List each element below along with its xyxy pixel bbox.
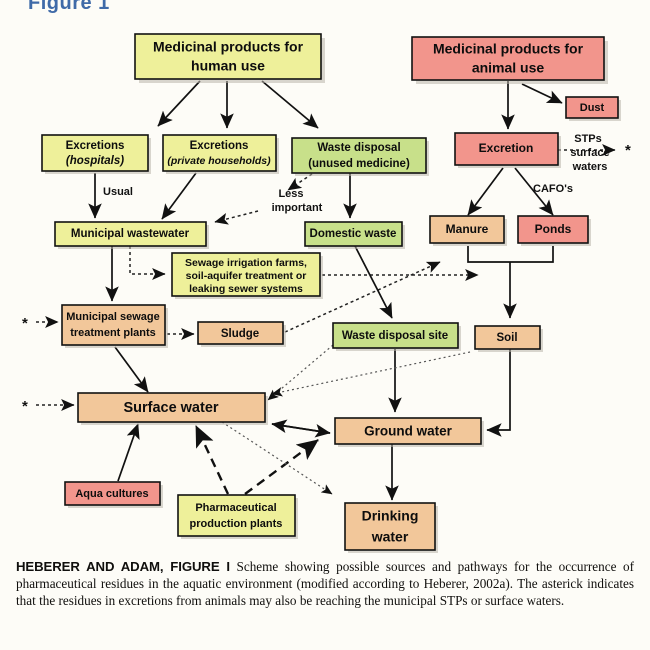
node-label-excretions-hospitals-line2: (hospitals) bbox=[66, 155, 124, 167]
node-municipal-sewage-treatment-plants[interactable]: Municipal sewage treatment plants bbox=[62, 305, 168, 348]
node-label-stp-line2: treatment plants bbox=[70, 327, 156, 339]
node-label-pharma-line1: Pharmaceutical bbox=[195, 502, 276, 514]
edge-label-cafos: CAFO's bbox=[533, 183, 573, 195]
node-label-medicinal-animal-line1: Medicinal products for bbox=[433, 41, 584, 57]
edge-wastewater-to-irrigation bbox=[130, 246, 165, 274]
edge-human-to-wastedisposal bbox=[262, 81, 318, 128]
edge-soil-to-groundwater bbox=[487, 349, 510, 430]
edge-aquacultures-to-surfacewater bbox=[118, 424, 138, 481]
node-sewage-irrigation-farms[interactable]: Sewage irrigation farms, soil-aquifer tr… bbox=[172, 253, 323, 299]
node-municipal-wastewater[interactable]: Municipal wastewater bbox=[55, 222, 209, 249]
edge-label-surface: surface bbox=[570, 147, 609, 159]
node-label-manure: Manure bbox=[446, 222, 489, 236]
edge-label-waters: waters bbox=[572, 161, 608, 173]
node-waste-disposal-unused-medicine[interactable]: Waste disposal (unused medicine) bbox=[292, 138, 429, 176]
caption-lead: HEBERER AND ADAM, FIGURE I bbox=[16, 559, 230, 574]
node-label-waste-disposal-line2: (unused medicine) bbox=[308, 158, 410, 170]
node-label-medicinal-animal-line2: animal use bbox=[472, 60, 545, 76]
node-label-surface-water: Surface water bbox=[123, 400, 218, 416]
node-manure[interactable]: Manure bbox=[430, 216, 507, 246]
node-label-drinking-water-line1: Drinking bbox=[362, 508, 419, 524]
edge-human-to-hospitals bbox=[158, 81, 200, 126]
asterisk-marker-right: * bbox=[625, 142, 631, 159]
edge-pharma-to-groundwater bbox=[245, 440, 318, 494]
pathway-diagram: Usual Less important STPs surface waters… bbox=[0, 0, 650, 560]
node-label-excretion-animal: Excretion bbox=[479, 141, 534, 155]
edge-label-usual: Usual bbox=[103, 186, 133, 198]
node-label-irrigation-line2: soil-aquifer treatment or bbox=[186, 270, 307, 282]
node-medicinal-products-human[interactable]: Medicinal products for human use bbox=[135, 34, 325, 83]
edge-pharma-to-surfacewater bbox=[196, 426, 228, 494]
node-excretions-hospitals[interactable]: Excretions (hospitals) bbox=[42, 135, 151, 174]
node-surface-water[interactable]: Surface water bbox=[78, 393, 268, 425]
node-pharmaceutical-production-plants[interactable]: Pharmaceutical production plants bbox=[178, 495, 298, 539]
edge-soil-to-surfacewater bbox=[272, 352, 470, 394]
node-label-excretions-hospitals-line1: Excretions bbox=[66, 140, 125, 152]
node-label-sludge: Sludge bbox=[221, 328, 259, 340]
node-sludge[interactable]: Sludge bbox=[198, 322, 286, 347]
edge-stp-to-surfacewater bbox=[115, 347, 148, 392]
asterisk-marker-surfacewater: * bbox=[22, 398, 28, 415]
node-label-pharma-line2: production plants bbox=[190, 518, 283, 530]
node-label-excretions-private-line1: Excretions bbox=[190, 140, 249, 152]
node-label-excretions-private-line2: (private households) bbox=[167, 155, 271, 167]
edge-disposalsite-to-surfacewater bbox=[268, 345, 333, 400]
node-label-aqua-cultures: Aqua cultures bbox=[75, 488, 148, 500]
node-excretions-private-households[interactable]: Excretions (private households) bbox=[163, 135, 279, 174]
node-ponds[interactable]: Ponds bbox=[518, 216, 591, 246]
edge-label-stps: STPs bbox=[574, 133, 602, 145]
node-aqua-cultures[interactable]: Aqua cultures bbox=[65, 482, 163, 508]
node-label-drinking-water-line2: water bbox=[371, 529, 409, 545]
node-ground-water[interactable]: Ground water bbox=[335, 418, 484, 447]
edge-domestic-to-disposalsite bbox=[355, 246, 392, 318]
edge-animal-to-dust bbox=[522, 84, 562, 103]
node-label-ponds: Ponds bbox=[535, 222, 572, 236]
asterisk-marker-stp: * bbox=[22, 315, 28, 332]
node-label-soil: Soil bbox=[496, 332, 517, 344]
node-drinking-water[interactable]: Drinking water bbox=[345, 503, 438, 553]
edge-lessimportant-to-wastewater bbox=[215, 211, 258, 222]
node-medicinal-products-animal[interactable]: Medicinal products for animal use bbox=[412, 37, 608, 84]
node-label-medicinal-human-line2: human use bbox=[191, 58, 265, 74]
node-dust[interactable]: Dust bbox=[566, 97, 621, 121]
node-excretion-animal[interactable]: Excretion bbox=[455, 133, 561, 168]
node-label-waste-disposal-line1: Waste disposal bbox=[317, 142, 400, 154]
node-domestic-waste[interactable]: Domestic waste bbox=[305, 222, 405, 249]
edge-manure-ponds-bracket bbox=[468, 246, 553, 262]
figure-page: Figure 1 bbox=[0, 0, 650, 650]
edge-label-less: Less bbox=[278, 188, 303, 200]
edge-private-to-wastewater bbox=[162, 173, 196, 219]
edge-surfacewater-downright bbox=[222, 422, 332, 494]
edge-excretion-to-manure bbox=[468, 168, 503, 215]
node-label-waste-disposal-site: Waste disposal site bbox=[342, 330, 448, 342]
figure-caption: HEBERER AND ADAM, FIGURE I Scheme showin… bbox=[16, 558, 634, 609]
node-label-medicinal-human-line1: Medicinal products for bbox=[153, 39, 304, 55]
edge-groundwater-to-surfacewater bbox=[272, 424, 330, 433]
node-label-stp-line1: Municipal sewage bbox=[66, 311, 160, 323]
node-label-domestic-waste: Domestic waste bbox=[310, 228, 397, 240]
node-label-irrigation-line1: Sewage irrigation farms, bbox=[185, 257, 307, 269]
node-label-irrigation-line3: leaking sewer systems bbox=[189, 283, 303, 295]
node-label-ground-water: Ground water bbox=[364, 424, 453, 439]
node-label-municipal-wastewater: Municipal wastewater bbox=[71, 228, 190, 240]
node-waste-disposal-site[interactable]: Waste disposal site bbox=[333, 323, 461, 351]
node-soil[interactable]: Soil bbox=[475, 326, 543, 352]
edge-label-important: important bbox=[272, 202, 323, 214]
node-label-dust: Dust bbox=[580, 102, 605, 114]
